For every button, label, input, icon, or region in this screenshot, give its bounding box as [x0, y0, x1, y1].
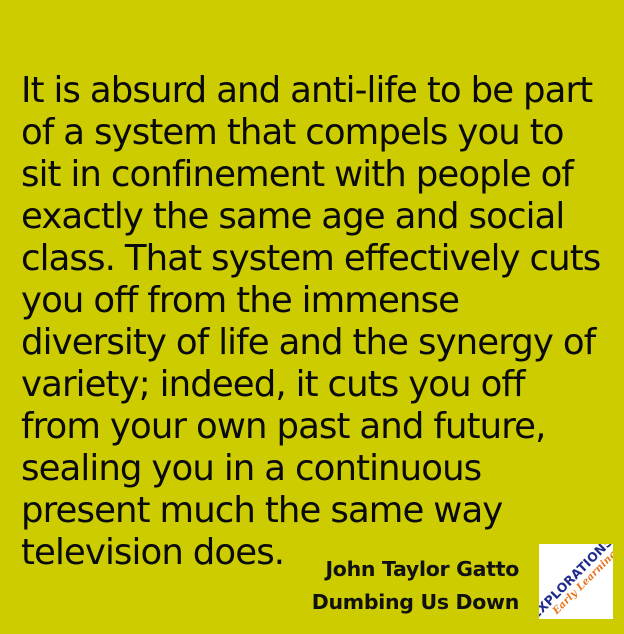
quote-card: It is absurd and anti-life to be part of…: [0, 0, 624, 634]
quote-text: It is absurd and anti-life to be part of…: [21, 70, 607, 574]
attribution-block: John Taylor Gatto Dumbing Us Down: [312, 553, 519, 619]
logo-brand-text: EXPLORATIONS: [539, 544, 613, 619]
explorations-early-learning-logo: EXPLORATIONS Early Learning: [539, 544, 613, 619]
attribution-author: John Taylor Gatto: [312, 553, 519, 586]
attribution-source: Dumbing Us Down: [312, 586, 519, 619]
